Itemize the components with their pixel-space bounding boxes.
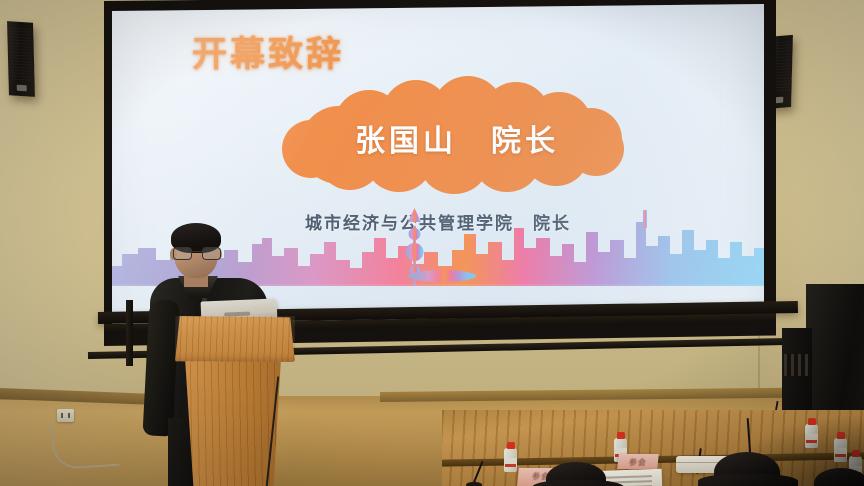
water-bottle [504,442,517,472]
name-card: 参会 [617,454,659,469]
glasses-icon [173,247,219,258]
rail-post [126,300,133,366]
audience-shoulder [532,480,624,486]
power-cable [50,418,119,470]
slide-title: 开幕致辞 [192,26,344,77]
slide-speaker-name: 张国山 院长 [282,116,632,160]
cloud-shape: 张国山 院长 [282,76,632,194]
podium [175,316,295,486]
podium-top-grain [175,316,295,362]
speaker-badge [17,85,27,92]
corner-shadow [724,416,864,486]
microphone-base [466,482,482,486]
rack-connectors [784,354,810,376]
speaker-grille [9,27,32,80]
wall-speaker-left [7,21,35,97]
conference-hall-photo: 开幕致辞 [0,0,864,486]
podium-wood-grain [185,358,281,486]
